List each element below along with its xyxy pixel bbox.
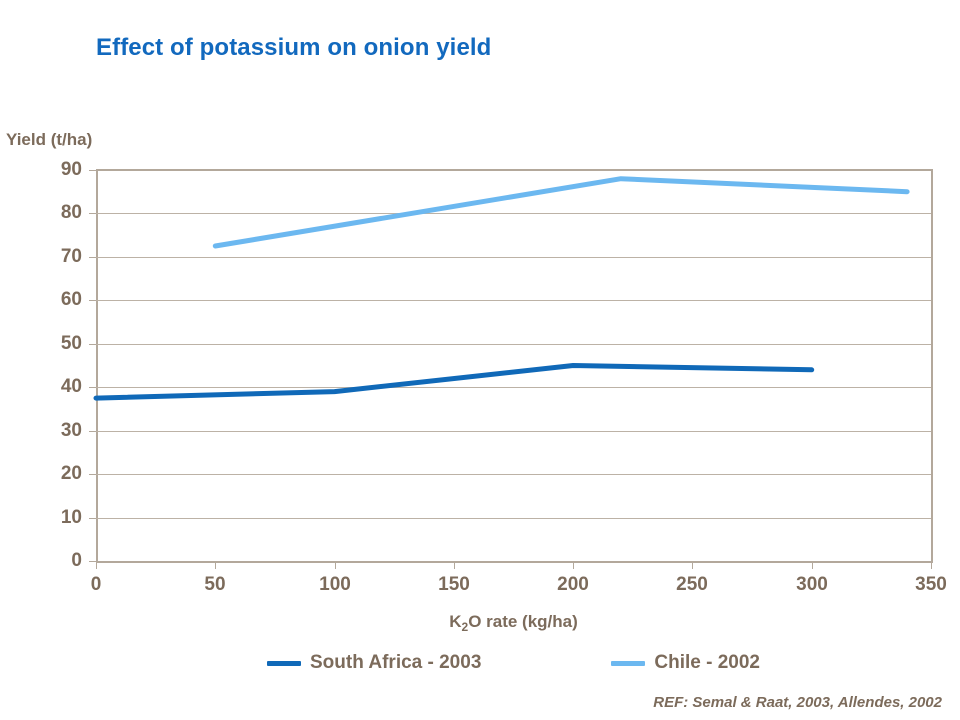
y-tick-mark [89, 257, 96, 258]
x-tick-label: 300 [772, 575, 852, 594]
legend-item[interactable]: Chile - 2002 [611, 652, 760, 674]
x-tick-label: 350 [891, 575, 960, 594]
x-tick-mark [335, 561, 336, 569]
x-axis-title-prefix: K [449, 612, 461, 631]
x-tick-label: 100 [295, 575, 375, 594]
legend-swatch-icon [611, 661, 645, 666]
plot-frame-right [931, 169, 933, 562]
gridline [96, 257, 931, 258]
y-tick-label: 70 [2, 247, 82, 266]
x-tick-label: 50 [175, 575, 255, 594]
y-tick-mark [89, 474, 96, 475]
legend-swatch-icon [267, 661, 301, 666]
y-tick-label: 40 [2, 377, 82, 396]
y-tick-mark [89, 213, 96, 214]
y-tick-label: 20 [2, 464, 82, 483]
y-tick-mark [89, 344, 96, 345]
y-tick-mark [89, 300, 96, 301]
gridline [96, 474, 931, 475]
x-tick-label: 0 [56, 575, 136, 594]
reference-note: REF: Semal & Raat, 2003, Allendes, 2002 [653, 694, 942, 711]
plot-area [96, 170, 933, 563]
gridline [96, 518, 931, 519]
x-axis-title: K2O rate (kg/ha) [96, 612, 931, 632]
y-tick-label: 90 [2, 160, 82, 179]
x-tick-label: 150 [414, 575, 494, 594]
y-tick-label: 80 [2, 203, 82, 222]
chart-legend: South Africa - 2003Chile - 2002 [96, 652, 931, 674]
y-tick-mark [89, 387, 96, 388]
x-axis-title-subscript: 2 [462, 620, 469, 634]
plot-frame-top [96, 169, 933, 171]
chart-container: Effect of potassium on onion yield Yield… [0, 0, 960, 720]
gridline [96, 344, 931, 345]
x-tick-mark [692, 561, 693, 569]
y-tick-label: 0 [2, 551, 82, 570]
y-tick-mark [89, 170, 96, 171]
y-tick-mark [89, 431, 96, 432]
y-tick-label: 60 [2, 290, 82, 309]
gridline [96, 300, 931, 301]
legend-label: Chile - 2002 [654, 652, 760, 674]
y-axis-title: Yield (t/ha) [6, 130, 92, 150]
chart-title: Effect of potassium on onion yield [96, 34, 491, 62]
legend-item[interactable]: South Africa - 2003 [267, 652, 481, 674]
y-tick-label: 30 [2, 421, 82, 440]
x-tick-label: 250 [652, 575, 732, 594]
x-tick-mark [454, 561, 455, 569]
x-tick-mark [96, 561, 97, 569]
gridline [96, 213, 931, 214]
y-tick-label: 10 [2, 508, 82, 527]
y-tick-mark [89, 561, 96, 562]
gridline [96, 387, 931, 388]
x-tick-mark [215, 561, 216, 569]
legend-label: South Africa - 2003 [310, 652, 481, 674]
x-tick-mark [573, 561, 574, 569]
y-tick-label: 50 [2, 334, 82, 353]
x-tick-mark [931, 561, 932, 569]
x-tick-mark [812, 561, 813, 569]
x-tick-label: 200 [533, 575, 613, 594]
x-axis-title-suffix: O rate (kg/ha) [468, 612, 578, 631]
y-tick-mark [89, 518, 96, 519]
gridline [96, 431, 931, 432]
